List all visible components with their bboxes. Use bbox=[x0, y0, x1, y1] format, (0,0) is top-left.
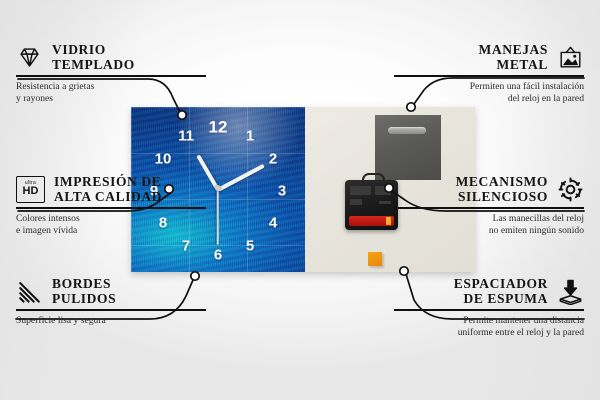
clock-number-12: 12 bbox=[209, 119, 228, 136]
mechanism-detail-a bbox=[350, 186, 371, 195]
clock-number-5: 5 bbox=[246, 239, 254, 254]
feature-title: VIDRIO TEMPLADO bbox=[52, 42, 135, 72]
battery bbox=[349, 216, 394, 226]
clock-minute-hand bbox=[217, 164, 265, 192]
clock-number-1: 1 bbox=[246, 129, 254, 144]
clock-number-10: 10 bbox=[155, 152, 172, 167]
clock-second-hand bbox=[217, 189, 219, 245]
mechanism-detail-d bbox=[379, 201, 391, 204]
feature-impresion-alta-calidad[interactable]: ultra HD IMPRESIÓN DE ALTA CALIDAD Color… bbox=[16, 174, 206, 238]
clock-center-pin bbox=[215, 185, 221, 191]
feature-rule bbox=[16, 75, 206, 77]
feature-description: Las manecillas del reloj no emiten ningú… bbox=[394, 213, 584, 238]
feature-description: Superficie lisa y segura bbox=[16, 315, 206, 327]
clock-number-4: 4 bbox=[269, 216, 277, 231]
feature-title: BORDES PULIDOS bbox=[52, 276, 116, 306]
feature-title: MANEJAS METAL bbox=[479, 42, 548, 72]
picture-hanger-icon bbox=[557, 44, 584, 71]
polished-edge-icon bbox=[16, 278, 43, 305]
feature-rule bbox=[394, 309, 584, 311]
clock-number-3: 3 bbox=[278, 184, 286, 199]
infographic-canvas: 12 1 2 3 4 5 6 7 8 9 10 11 bbox=[0, 0, 600, 400]
feature-rule bbox=[16, 207, 206, 209]
clock-number-2: 2 bbox=[269, 152, 277, 167]
gear-icon bbox=[557, 176, 584, 203]
feature-rule bbox=[394, 75, 584, 77]
spacer-arrow-icon bbox=[557, 278, 584, 305]
feature-description: Colores intensos e imagen vívida bbox=[16, 213, 206, 238]
mechanism-detail-c bbox=[350, 199, 362, 205]
feature-description: Resistencia a grietas y rayones bbox=[16, 81, 206, 106]
ultra-hd-icon: ultra HD bbox=[16, 176, 45, 203]
metal-hanger-plate bbox=[375, 115, 441, 180]
feature-vidrio-templado[interactable]: VIDRIO TEMPLADO Resistencia a grietas y … bbox=[16, 42, 206, 106]
feature-rule bbox=[394, 207, 584, 209]
quartz-mechanism bbox=[345, 180, 398, 230]
clock-number-7: 7 bbox=[182, 239, 190, 254]
feature-description: Permiten una fácil instalación del reloj… bbox=[394, 81, 584, 106]
feature-mecanismo-silencioso[interactable]: MECANISMO SILENCIOSO Las manecillas del … bbox=[394, 174, 584, 238]
feature-title: MECANISMO SILENCIOSO bbox=[456, 174, 548, 204]
feature-bordes-pulidos[interactable]: BORDES PULIDOS Superficie lisa y segura bbox=[16, 276, 206, 327]
foam-spacer bbox=[368, 252, 382, 266]
clock-number-11: 11 bbox=[178, 129, 194, 144]
feature-title: ESPACIADOR DE ESPUMA bbox=[454, 276, 548, 306]
hanger-slot bbox=[388, 127, 426, 134]
feature-rule bbox=[16, 309, 206, 311]
diamond-icon bbox=[16, 44, 43, 71]
feature-title: IMPRESIÓN DE ALTA CALIDAD bbox=[54, 174, 162, 204]
mechanism-loop bbox=[362, 173, 385, 185]
feature-manejas-metal[interactable]: MANEJAS METAL Permiten una fácil instala… bbox=[394, 42, 584, 106]
mechanism-detail-b bbox=[375, 186, 391, 195]
battery-terminal bbox=[386, 217, 391, 225]
clock-number-6: 6 bbox=[214, 248, 222, 263]
feature-description: Permite mantener una distancia uniforme … bbox=[394, 315, 584, 340]
feature-espaciador-de-espuma[interactable]: ESPACIADOR DE ESPUMA Permite mantener un… bbox=[394, 276, 584, 340]
